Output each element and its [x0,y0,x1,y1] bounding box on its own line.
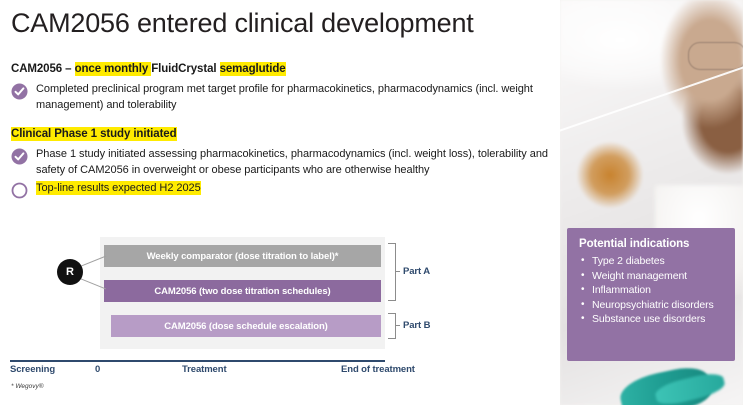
list-item: Neuropsychiatric disorders [579,298,723,313]
list-item: Top-line results expected H2 2025 [11,181,556,199]
study-arm-bar-2: CAM2056 (two dose titration schedules) [104,280,381,302]
list-item: Completed preclinical program met target… [11,82,556,113]
axis-label-screening: Screening [10,364,55,375]
bracket-part-a [388,243,396,301]
check-circle-icon [11,83,28,100]
list-item: Weight management [579,269,723,284]
list-item-label: Completed preclinical program met target… [36,82,556,113]
axis-label-zero: 0 [95,364,100,375]
footnote: * Wegovy® [11,383,44,390]
randomization-node: R [57,259,83,285]
section2-heading: Clinical Phase 1 study initiated [11,127,556,142]
bracket-part-b [388,313,396,339]
potential-indications-panel: Potential indications Type 2 diabetes We… [567,228,735,361]
panel-title: Potential indications [579,238,723,250]
section1-heading-highlight-2: semaglutide [220,62,286,76]
empty-circle-icon [11,182,28,199]
section1-heading: CAM2056 – once monthly FluidCrystal sema… [11,62,556,77]
content-column: CAM2056 – once monthly FluidCrystal sema… [11,62,556,202]
axis-label-end-of-treatment: End of treatment [341,364,415,375]
section1-heading-prefix: CAM2056 – [11,63,75,75]
bracket-tick-part-a [395,271,400,272]
list-item-label: Top-line results expected H2 2025 [36,181,201,197]
study-arm-bar-3: CAM2056 (dose schedule escalation) [111,315,381,337]
indications-list: Type 2 diabetes Weight management Inflam… [579,254,723,327]
list-item: Phase 1 study initiated assessing pharma… [11,147,556,178]
study-arm-bar-1: Weekly comparator (dose titration to lab… [104,245,381,267]
section1-heading-highlight-1: once monthly [75,62,152,76]
axis-label-treatment: Treatment [182,364,227,375]
slide: CAM2056 entered clinical development CAM… [0,0,743,405]
page-title: CAM2056 entered clinical development [11,6,474,40]
section1-heading-plain: FluidCrystal [151,63,219,75]
list-item: Type 2 diabetes [579,254,723,269]
list-item-highlight: Top-line results expected H2 2025 [36,181,201,195]
part-b-label: Part B [403,320,430,331]
check-circle-icon [11,148,28,165]
photo-eyeglasses [688,42,743,70]
timeline-axis [10,360,385,362]
bracket-tick-part-b [395,325,400,326]
list-item: Inflammation [579,283,723,298]
part-a-label: Part A [403,266,430,277]
list-item: Substance use disorders [579,312,723,327]
section2-heading-highlight: Clinical Phase 1 study initiated [11,127,177,141]
list-item-label: Phase 1 study initiated assessing pharma… [36,147,556,178]
